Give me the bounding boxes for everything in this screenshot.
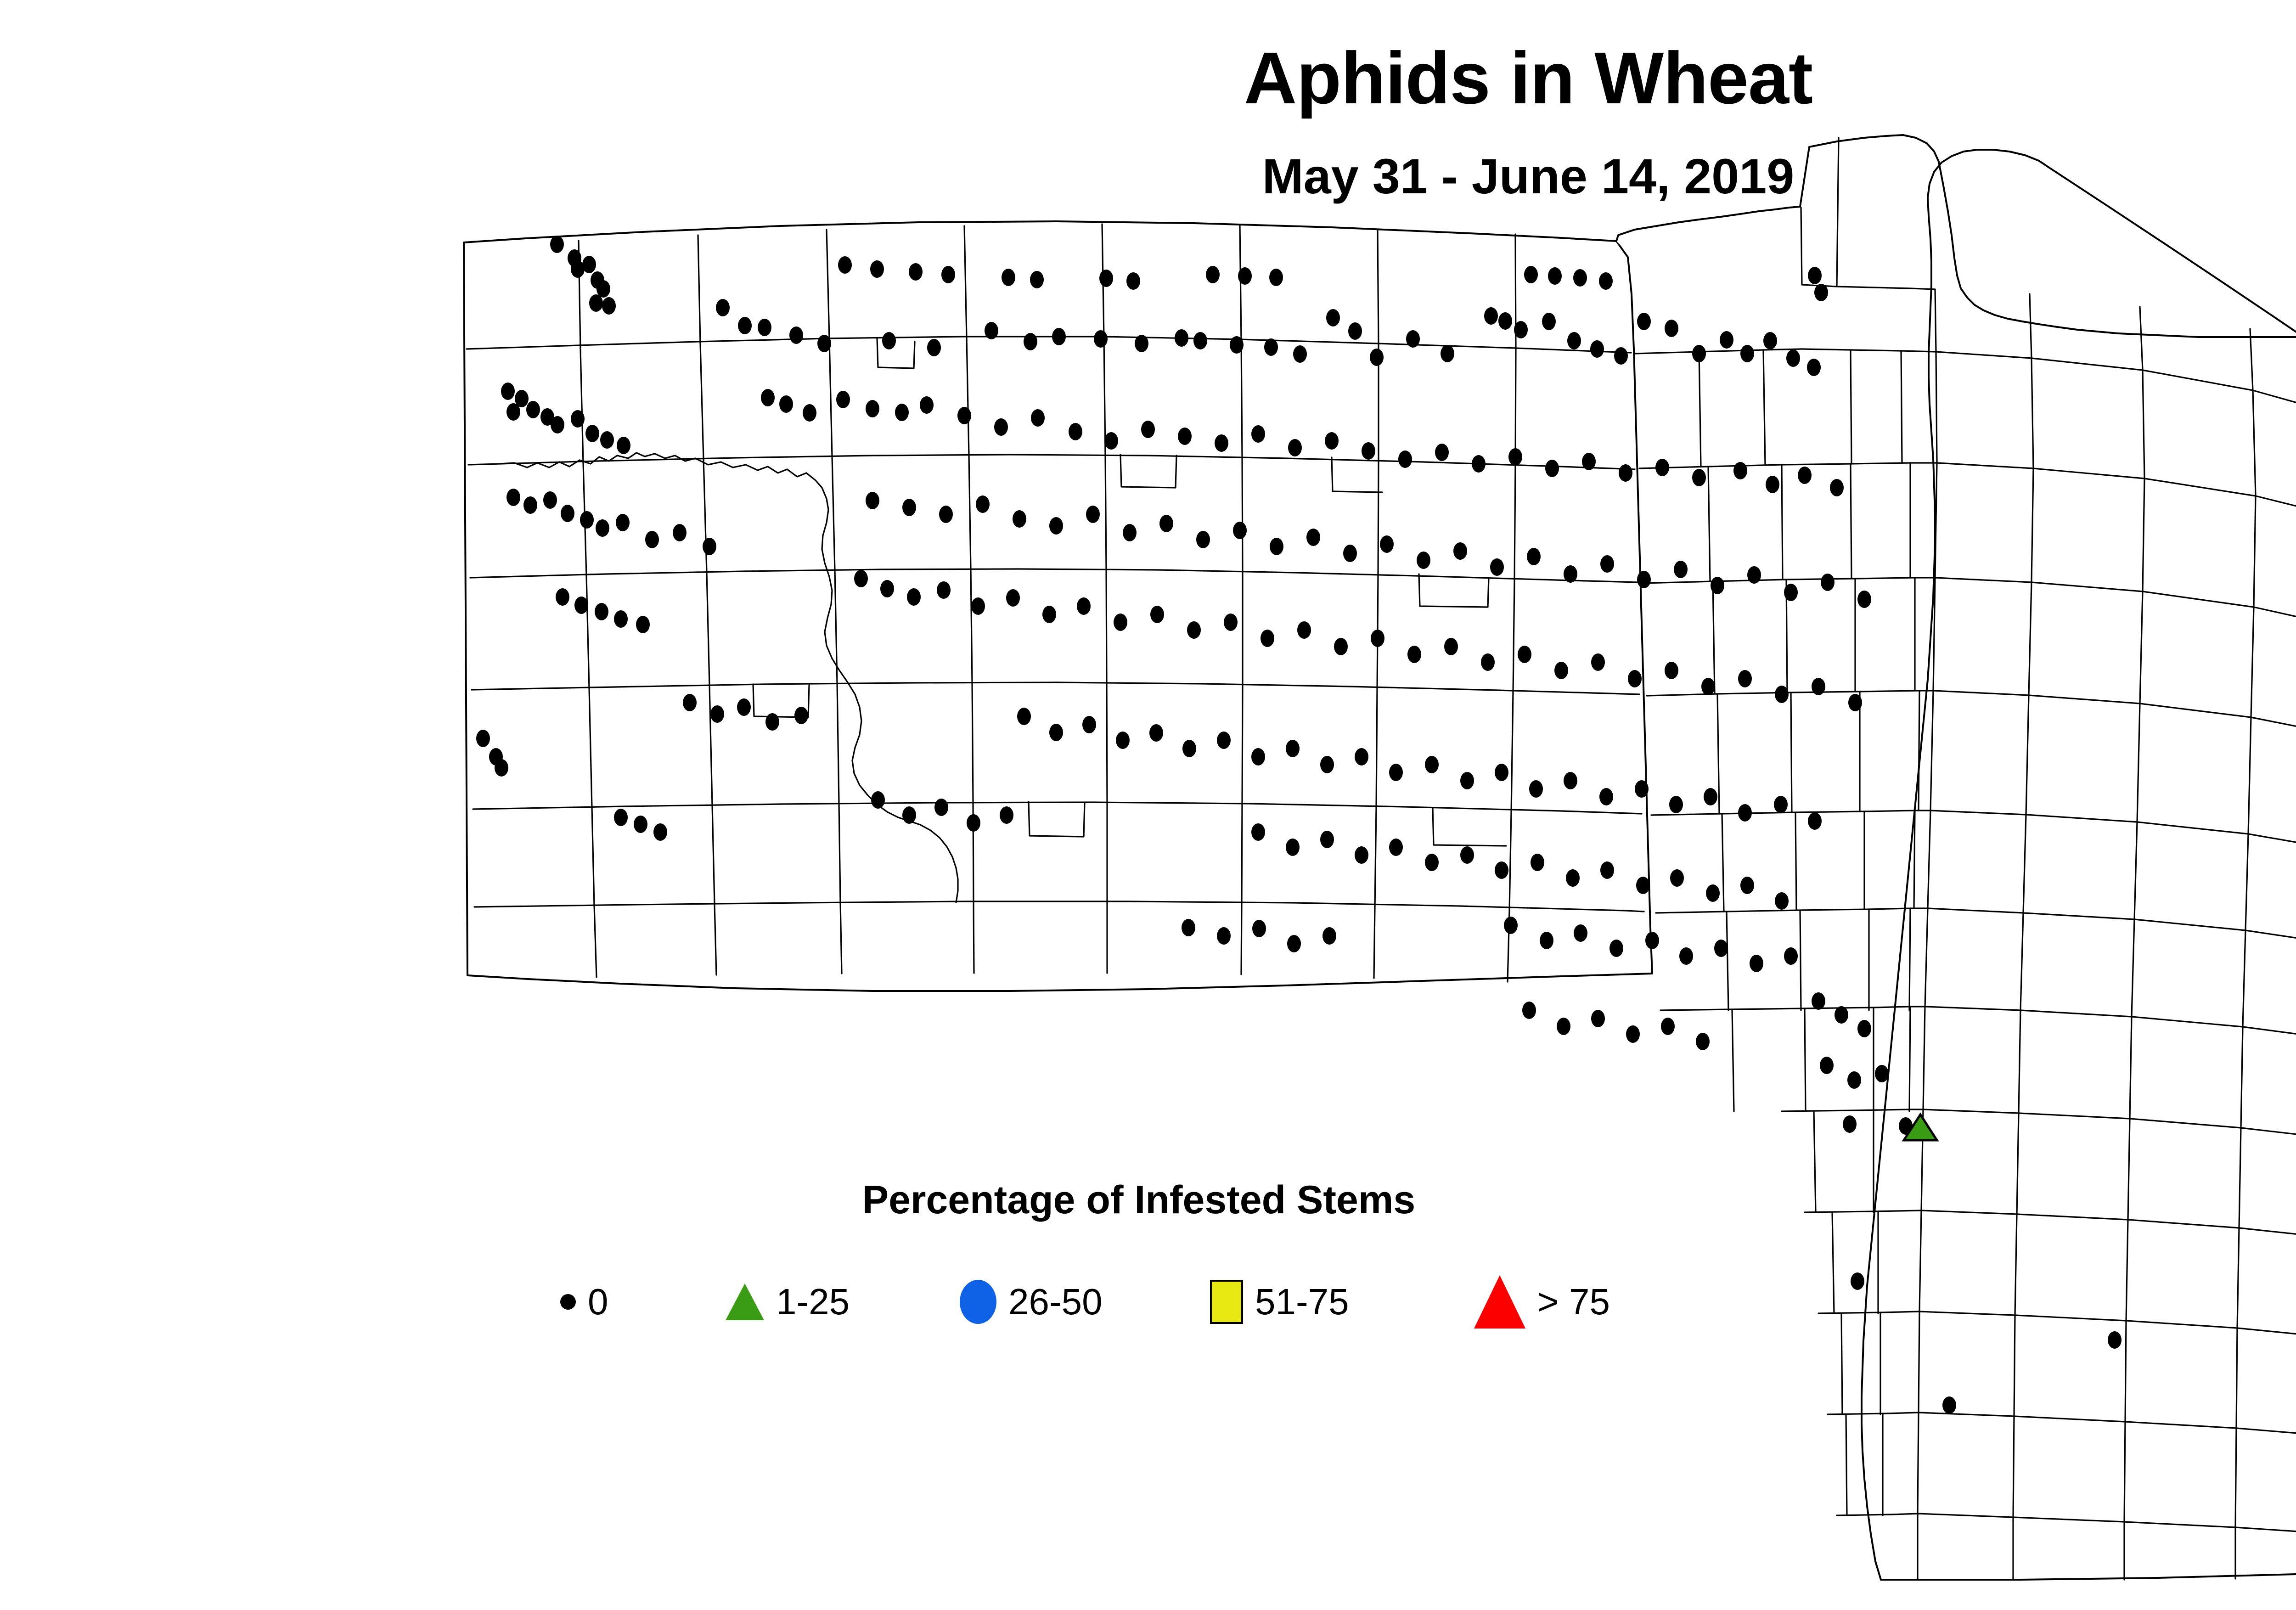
survey-point-zero bbox=[1812, 678, 1825, 695]
survey-point-zero bbox=[836, 391, 850, 408]
survey-point-zero bbox=[1206, 266, 1220, 283]
survey-point-zero bbox=[1636, 877, 1650, 894]
survey-point-zero bbox=[941, 266, 955, 283]
survey-point-zero bbox=[1619, 464, 1632, 482]
survey-point-zero bbox=[1574, 924, 1587, 942]
survey-point-zero bbox=[1116, 732, 1130, 749]
survey-point-zero bbox=[523, 496, 537, 514]
survey-point-zero bbox=[1609, 940, 1623, 957]
survey-point-zero bbox=[1490, 558, 1504, 576]
survey-point-zero bbox=[1251, 823, 1265, 841]
survey-point-zero bbox=[543, 491, 557, 509]
survey-point-zero bbox=[1527, 548, 1541, 565]
survey-point-zero bbox=[1042, 606, 1056, 623]
survey-point-zero bbox=[1407, 646, 1421, 663]
survey-point-zero bbox=[1696, 1033, 1710, 1050]
survey-point-zero bbox=[1444, 638, 1458, 655]
survey-point-zero bbox=[1251, 748, 1265, 766]
survey-point-zero bbox=[1077, 597, 1091, 615]
survey-point-zero bbox=[1635, 780, 1649, 798]
survey-point-zero bbox=[1645, 932, 1659, 949]
survey-point-zero bbox=[1150, 606, 1164, 623]
survey-point-zero bbox=[1599, 788, 1613, 805]
survey-point-zero bbox=[1670, 869, 1684, 887]
survey-point-zero bbox=[1591, 1010, 1605, 1027]
survey-point-zero bbox=[1293, 345, 1307, 363]
survey-point-zero bbox=[1531, 854, 1544, 871]
legend-item-51-75[interactable]: 51-75 bbox=[1210, 1258, 1349, 1345]
survey-point-zero bbox=[1017, 708, 1031, 725]
survey-point-zero bbox=[765, 713, 779, 731]
survey-point-zero bbox=[1425, 756, 1439, 773]
survey-point-zero bbox=[1495, 764, 1508, 781]
survey-point-zero bbox=[1126, 272, 1140, 290]
survey-point-zero bbox=[1196, 531, 1210, 548]
survey-point-zero bbox=[1738, 804, 1752, 822]
survey-point-zero bbox=[1599, 272, 1613, 290]
survey-point-zero bbox=[1013, 510, 1026, 528]
survey-point-zero bbox=[1230, 336, 1244, 354]
survey-point-zero bbox=[1460, 846, 1474, 864]
survey-point-zero bbox=[1814, 284, 1828, 301]
survey-point-zero bbox=[1518, 646, 1531, 663]
survey-point-zero bbox=[1326, 309, 1340, 327]
legend-label-over-75: > 75 bbox=[1537, 1283, 1610, 1320]
survey-point-zero bbox=[1554, 662, 1568, 679]
survey-point-zero bbox=[1637, 571, 1651, 588]
survey-point-zero bbox=[1370, 349, 1384, 366]
survey-point-zero bbox=[1149, 724, 1163, 742]
survey-point-zero bbox=[597, 280, 610, 298]
survey-point-zero bbox=[1355, 846, 1368, 864]
survey-point-zero bbox=[1182, 919, 1195, 936]
survey-point-zero bbox=[1750, 955, 1763, 972]
survey-point-zero bbox=[1766, 476, 1779, 493]
blue-circle-icon bbox=[960, 1280, 996, 1324]
survey-point-zero bbox=[556, 588, 569, 606]
legend-label-0: 0 bbox=[588, 1283, 608, 1320]
survey-point-zero bbox=[971, 597, 985, 615]
map-legend: Percentage of Infested Stems 0 1-25 26-5… bbox=[542, 1180, 1736, 1355]
survey-point-zero bbox=[1380, 535, 1394, 553]
survey-point-zero bbox=[1542, 313, 1556, 330]
legend-items-row: 0 1-25 26-50 51-75 > 75 bbox=[542, 1258, 1736, 1345]
survey-point-zero bbox=[1784, 947, 1798, 965]
survey-point-zero bbox=[761, 389, 775, 406]
survey-point-zero bbox=[1524, 266, 1538, 283]
survey-point-zero bbox=[870, 260, 884, 278]
survey-point-zero bbox=[1104, 432, 1118, 450]
survey-point-zero bbox=[506, 489, 520, 506]
survey-point-zero bbox=[1720, 331, 1733, 349]
survey-point-zero bbox=[1830, 479, 1844, 496]
survey-point-zero bbox=[1614, 347, 1628, 365]
survey-point-zero bbox=[1747, 566, 1761, 584]
survey-point-zero bbox=[1591, 653, 1605, 671]
survey-point-zero bbox=[1835, 1006, 1848, 1024]
survey-point-zero bbox=[1287, 935, 1301, 952]
legend-label-1-25: 1-25 bbox=[776, 1283, 850, 1320]
survey-point-zero bbox=[1406, 330, 1420, 348]
survey-point-zero bbox=[1141, 421, 1155, 438]
survey-point-zero bbox=[927, 339, 941, 356]
survey-point-zero bbox=[1187, 621, 1201, 639]
survey-point-zero bbox=[1557, 1018, 1570, 1035]
survey-point-zero bbox=[1847, 1071, 1861, 1089]
survey-point-zero bbox=[1775, 686, 1789, 703]
survey-point-zero bbox=[602, 297, 616, 315]
survey-point-zero bbox=[1031, 409, 1045, 427]
survey-point-zero bbox=[880, 580, 894, 597]
survey-point-zero bbox=[1714, 940, 1728, 957]
survey-point-zero bbox=[1334, 638, 1348, 655]
survey-point-zero bbox=[1942, 1396, 1956, 1414]
survey-point-zero bbox=[703, 538, 716, 555]
survey-point-zero bbox=[1322, 927, 1336, 945]
survey-point-zero bbox=[1774, 796, 1788, 813]
survey-point-zero bbox=[1217, 927, 1231, 945]
survey-point-zero bbox=[1763, 332, 1777, 349]
legend-title: Percentage of Infested Stems bbox=[542, 1180, 1736, 1220]
survey-point-zero bbox=[1628, 670, 1642, 687]
survey-point-zero bbox=[1481, 653, 1495, 671]
survey-point-zero bbox=[1857, 591, 1871, 608]
survey-point-zero bbox=[561, 505, 574, 522]
survey-point-zero bbox=[1692, 345, 1706, 362]
survey-point-zero bbox=[1775, 892, 1789, 910]
survey-point-zero bbox=[1002, 269, 1015, 286]
survey-point-zero bbox=[994, 418, 1008, 436]
survey-point-zero bbox=[1514, 321, 1528, 338]
survey-point-zero bbox=[1733, 462, 1747, 479]
survey-point-zero bbox=[1182, 740, 1196, 757]
survey-point-zero bbox=[1224, 614, 1238, 631]
survey-point-zero bbox=[737, 698, 751, 716]
survey-point-zero bbox=[1233, 522, 1247, 539]
survey-point-zero bbox=[1812, 992, 1825, 1010]
legend-item-26-50[interactable]: 26-50 bbox=[960, 1258, 1103, 1345]
survey-point-zero bbox=[957, 407, 971, 424]
survey-point-zero bbox=[1099, 270, 1113, 287]
survey-point-zero bbox=[1665, 320, 1678, 337]
survey-point-zero bbox=[551, 416, 564, 433]
survey-point-zero bbox=[1495, 861, 1508, 879]
legend-label-26-50: 26-50 bbox=[1008, 1283, 1103, 1320]
survey-point-zero bbox=[617, 437, 630, 454]
survey-point-zero bbox=[1251, 425, 1265, 443]
survey-point-zero bbox=[1655, 459, 1669, 476]
survey-point-zero bbox=[574, 597, 588, 614]
survey-point-zero bbox=[1701, 678, 1715, 695]
survey-point-zero bbox=[1006, 589, 1020, 607]
survey-point-zero bbox=[1000, 806, 1013, 824]
map-canvas bbox=[0, 0, 2296, 1610]
legend-item-1-25[interactable]: 1-25 bbox=[726, 1258, 850, 1345]
survey-point-zero bbox=[902, 806, 916, 824]
survey-point-zero bbox=[645, 531, 659, 548]
survey-point-zero bbox=[909, 263, 923, 281]
survey-point-zero bbox=[1545, 460, 1559, 477]
survey-point-zero bbox=[580, 511, 594, 529]
survey-point-zero bbox=[934, 799, 948, 816]
survey-point-zero bbox=[1286, 740, 1300, 757]
survey-point-zero bbox=[1441, 345, 1454, 362]
survey-point-zero bbox=[1398, 450, 1412, 468]
survey-point-zero bbox=[1024, 333, 1037, 350]
survey-point-zero bbox=[550, 236, 564, 253]
survey-point-zero bbox=[794, 707, 808, 724]
survey-point-zero bbox=[585, 425, 599, 442]
survey-point-zero bbox=[716, 299, 730, 316]
map-figure: Aphids in Wheat May 31 - June 14, 2019 bbox=[0, 0, 2296, 1610]
survey-point-zero bbox=[1049, 517, 1063, 535]
survey-point-zero bbox=[976, 495, 990, 513]
survey-point-zero bbox=[582, 256, 596, 273]
survey-point-zero bbox=[710, 705, 724, 723]
survey-point-zero bbox=[902, 499, 916, 516]
survey-point-zero bbox=[1674, 561, 1688, 578]
survey-point-zero bbox=[1484, 307, 1498, 325]
survey-point-zero bbox=[1692, 469, 1706, 486]
survey-point-zero bbox=[1371, 630, 1384, 647]
survey-point-zero bbox=[1135, 335, 1148, 352]
survey-point-zero bbox=[1052, 328, 1066, 345]
survey-point-zero bbox=[1320, 756, 1334, 773]
survey-point-zero bbox=[1738, 670, 1752, 687]
survey-point-zero bbox=[854, 570, 868, 587]
legend-item-0[interactable]: 0 bbox=[560, 1258, 608, 1345]
survey-point-zero bbox=[1288, 439, 1302, 456]
survey-point-zero bbox=[1665, 662, 1678, 679]
survey-point-zero bbox=[920, 396, 934, 414]
survey-point-zero bbox=[571, 410, 585, 428]
survey-point-zero bbox=[1159, 515, 1173, 532]
survey-point-zero bbox=[1540, 932, 1553, 949]
survey-point-zero bbox=[1679, 947, 1693, 965]
survey-point-zero bbox=[1362, 442, 1375, 460]
survey-point-zero bbox=[1711, 577, 1724, 594]
survey-point-zero bbox=[1626, 1025, 1640, 1043]
survey-point-zero bbox=[653, 823, 667, 841]
survey-point-zero bbox=[1820, 1057, 1834, 1074]
survey-point-zero bbox=[1049, 724, 1063, 741]
survey-point-zero bbox=[526, 401, 540, 418]
survey-point-zero bbox=[1843, 1115, 1857, 1133]
survey-point-zero bbox=[985, 322, 998, 339]
survey-point-zero bbox=[616, 514, 630, 531]
survey-point-zero bbox=[789, 327, 803, 344]
survey-point-zero bbox=[1821, 574, 1835, 591]
survey-point-zero bbox=[1808, 267, 1822, 284]
survey-point-zero bbox=[673, 524, 687, 541]
survey-point-zero bbox=[1261, 630, 1274, 647]
survey-point-zero bbox=[1522, 1002, 1536, 1019]
survey-point-zero bbox=[1567, 332, 1581, 349]
survey-point-zero bbox=[1238, 267, 1252, 285]
black-dot-icon bbox=[560, 1294, 576, 1310]
survey-point-zero bbox=[1564, 565, 1577, 583]
survey-point-zero bbox=[1252, 920, 1266, 937]
yellow-square-icon bbox=[1210, 1280, 1243, 1324]
survey-point-zero bbox=[1389, 764, 1403, 781]
survey-point-zero bbox=[758, 319, 771, 336]
survey-point-zero bbox=[1600, 555, 1614, 573]
survey-point-zero bbox=[1875, 1065, 1889, 1082]
survey-point-zero bbox=[882, 332, 896, 349]
survey-point-zero bbox=[1848, 694, 1862, 711]
survey-point-zero bbox=[1435, 444, 1449, 461]
survey-point-zero bbox=[803, 404, 816, 422]
survey-point-zero bbox=[1348, 322, 1362, 340]
survey-point-zero bbox=[1417, 552, 1430, 569]
survey-point-zero bbox=[1264, 338, 1278, 356]
survey-point-zero bbox=[1082, 716, 1096, 733]
legend-item-over-75[interactable]: > 75 bbox=[1474, 1258, 1610, 1345]
survey-point-zero bbox=[1286, 839, 1300, 856]
survey-point-zero bbox=[1030, 271, 1044, 288]
survey-point-zero bbox=[1566, 869, 1580, 887]
survey-point-zero bbox=[1270, 538, 1283, 555]
survey-point-zero bbox=[866, 400, 879, 417]
survey-point-zero bbox=[1178, 428, 1192, 445]
survey-point-zero bbox=[1425, 854, 1439, 871]
survey-point-zero bbox=[1472, 455, 1486, 473]
survey-point-zero bbox=[1508, 448, 1522, 466]
survey-point-zero bbox=[779, 395, 793, 413]
survey-point-zero bbox=[937, 581, 951, 599]
survey-point-zero bbox=[1217, 732, 1231, 749]
survey-point-zero bbox=[967, 814, 980, 832]
survey-point-zero bbox=[817, 335, 831, 352]
survey-point-zero bbox=[501, 383, 515, 400]
survey-point-zero bbox=[1582, 453, 1596, 470]
survey-point-zero bbox=[1460, 772, 1474, 789]
survey-point-zero bbox=[1453, 542, 1467, 560]
survey-point-zero bbox=[866, 492, 879, 509]
survey-point-zero bbox=[636, 616, 650, 633]
green-triangle-icon bbox=[726, 1283, 764, 1320]
survey-point-zero bbox=[1320, 831, 1334, 848]
survey-point-zero bbox=[683, 694, 697, 711]
survey-point-zero bbox=[1548, 267, 1562, 285]
survey-point-zero bbox=[634, 816, 647, 833]
survey-point-zero bbox=[1573, 269, 1587, 287]
survey-point-zero bbox=[838, 256, 852, 274]
survey-point-zero bbox=[1389, 839, 1403, 856]
survey-point-zero bbox=[1600, 861, 1614, 879]
survey-point-zero bbox=[600, 431, 614, 449]
survey-point-zero bbox=[2108, 1331, 2122, 1349]
survey-point-zero bbox=[1706, 884, 1720, 902]
survey-point-zero bbox=[476, 730, 490, 747]
survey-point-zero bbox=[1740, 877, 1754, 894]
survey-point-zero bbox=[1086, 506, 1100, 523]
survey-point-zero bbox=[1297, 621, 1311, 639]
survey-point-zero bbox=[1637, 313, 1651, 330]
survey-point-zero bbox=[1851, 1272, 1864, 1290]
survey-point-zero bbox=[939, 506, 953, 523]
survey-point-zero bbox=[1661, 1018, 1675, 1035]
survey-point-zero bbox=[1798, 467, 1812, 484]
survey-point-zero bbox=[1215, 434, 1228, 452]
survey-point-zero bbox=[596, 519, 609, 537]
survey-point-zero bbox=[1114, 614, 1127, 631]
survey-point-zero bbox=[1269, 269, 1283, 286]
survey-point-zero bbox=[614, 610, 628, 628]
survey-point-zero bbox=[871, 791, 885, 809]
survey-point-zero bbox=[1590, 340, 1604, 358]
survey-point-zero bbox=[1857, 1020, 1871, 1037]
survey-point-zero bbox=[1325, 432, 1339, 450]
red-triangle-icon bbox=[1474, 1275, 1525, 1329]
survey-point-zero bbox=[589, 294, 603, 312]
survey-point-zero bbox=[738, 317, 752, 334]
survey-point-zero bbox=[1529, 780, 1543, 798]
survey-point-zero bbox=[1564, 772, 1577, 789]
survey-point-zero bbox=[895, 404, 909, 421]
survey-point-zero bbox=[506, 403, 520, 421]
survey-point-zero bbox=[1123, 524, 1137, 541]
survey-point-zero bbox=[595, 603, 608, 620]
survey-point-zero bbox=[1069, 423, 1082, 440]
survey-point-zero bbox=[1193, 332, 1207, 349]
survey-point-zero bbox=[1808, 812, 1822, 830]
survey-point-zero bbox=[1498, 312, 1512, 330]
survey-point-zero bbox=[907, 588, 921, 606]
survey-point-zero bbox=[1704, 788, 1717, 805]
survey-point-zero bbox=[1786, 349, 1800, 367]
survey-point-zero bbox=[495, 759, 508, 777]
survey-point-zero bbox=[1175, 329, 1188, 347]
survey-point-zero bbox=[1669, 796, 1683, 813]
survey-point-zero bbox=[1094, 330, 1108, 348]
survey-point-zero bbox=[1306, 529, 1320, 546]
survey-point-zero bbox=[1355, 748, 1368, 766]
survey-point-zero bbox=[1784, 584, 1798, 601]
survey-point-zero bbox=[614, 809, 628, 826]
survey-point-zero bbox=[1807, 359, 1821, 376]
survey-point-zero bbox=[1504, 917, 1518, 934]
legend-label-51-75: 51-75 bbox=[1255, 1283, 1349, 1320]
survey-point-zero bbox=[1343, 545, 1357, 562]
survey-point-zero bbox=[1740, 345, 1754, 362]
